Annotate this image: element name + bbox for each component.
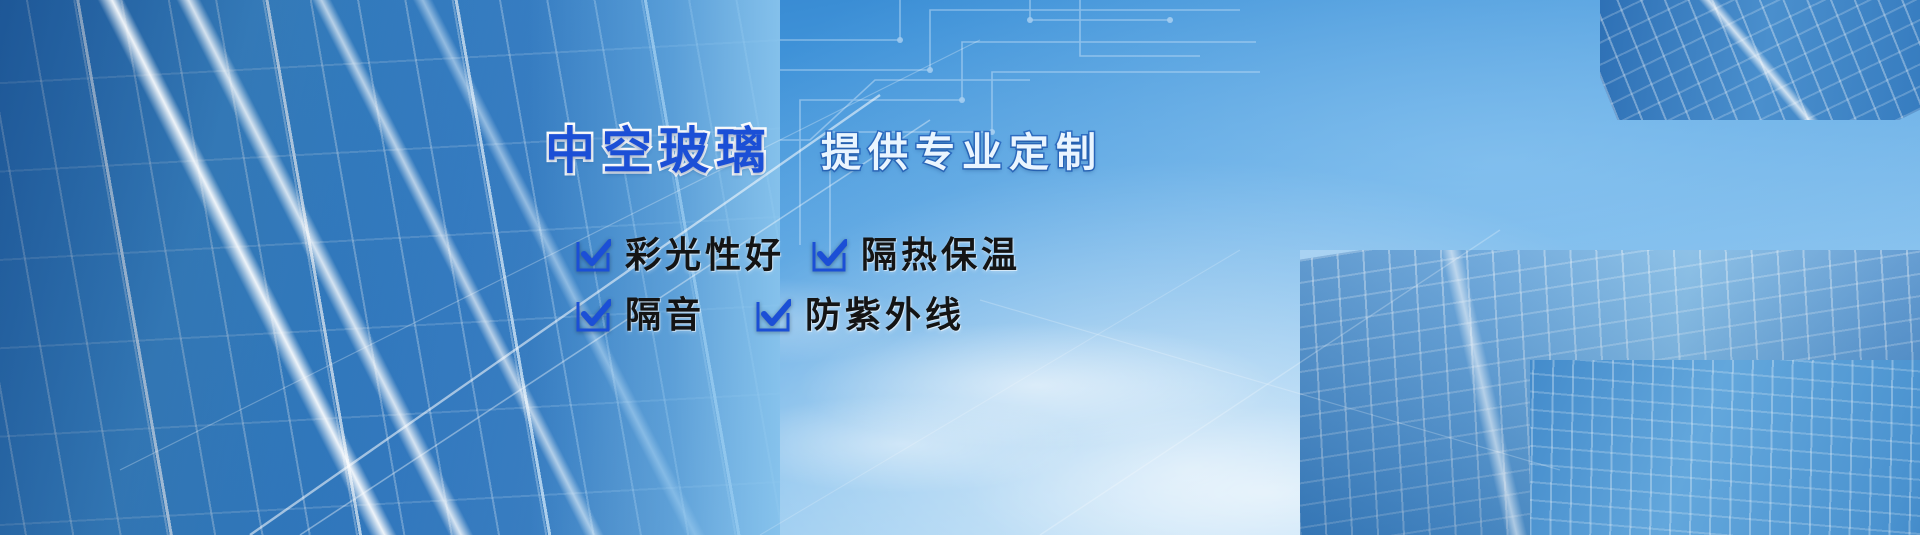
banner-content: 中空玻璃 提供专业定制 彩光性好 (0, 0, 1920, 535)
headline-row: 中空玻璃 提供专业定制 (545, 126, 1103, 176)
feature-item: 隔音 (575, 298, 705, 334)
feature-item: 彩光性好 (575, 238, 785, 274)
checkbox-checked-icon (575, 299, 611, 333)
checkbox-checked-icon (755, 299, 791, 333)
feature-list: 彩光性好 隔热保温 (575, 228, 1021, 344)
feature-item: 隔热保温 (811, 238, 1021, 274)
feature-row: 隔音 防紫外线 (575, 288, 1021, 344)
page-title: 中空玻璃 (545, 126, 773, 176)
feature-label: 彩光性好 (625, 238, 785, 274)
feature-label: 隔热保温 (861, 238, 1021, 274)
hero-banner: 中空玻璃 提供专业定制 彩光性好 (0, 0, 1920, 535)
checkbox-checked-icon (811, 239, 847, 273)
feature-item: 防紫外线 (755, 298, 965, 334)
page-subtitle: 提供专业定制 (821, 133, 1103, 176)
checkbox-checked-icon (575, 239, 611, 273)
feature-row: 彩光性好 隔热保温 (575, 228, 1021, 284)
feature-label: 防紫外线 (805, 298, 965, 334)
feature-label: 隔音 (625, 298, 705, 334)
